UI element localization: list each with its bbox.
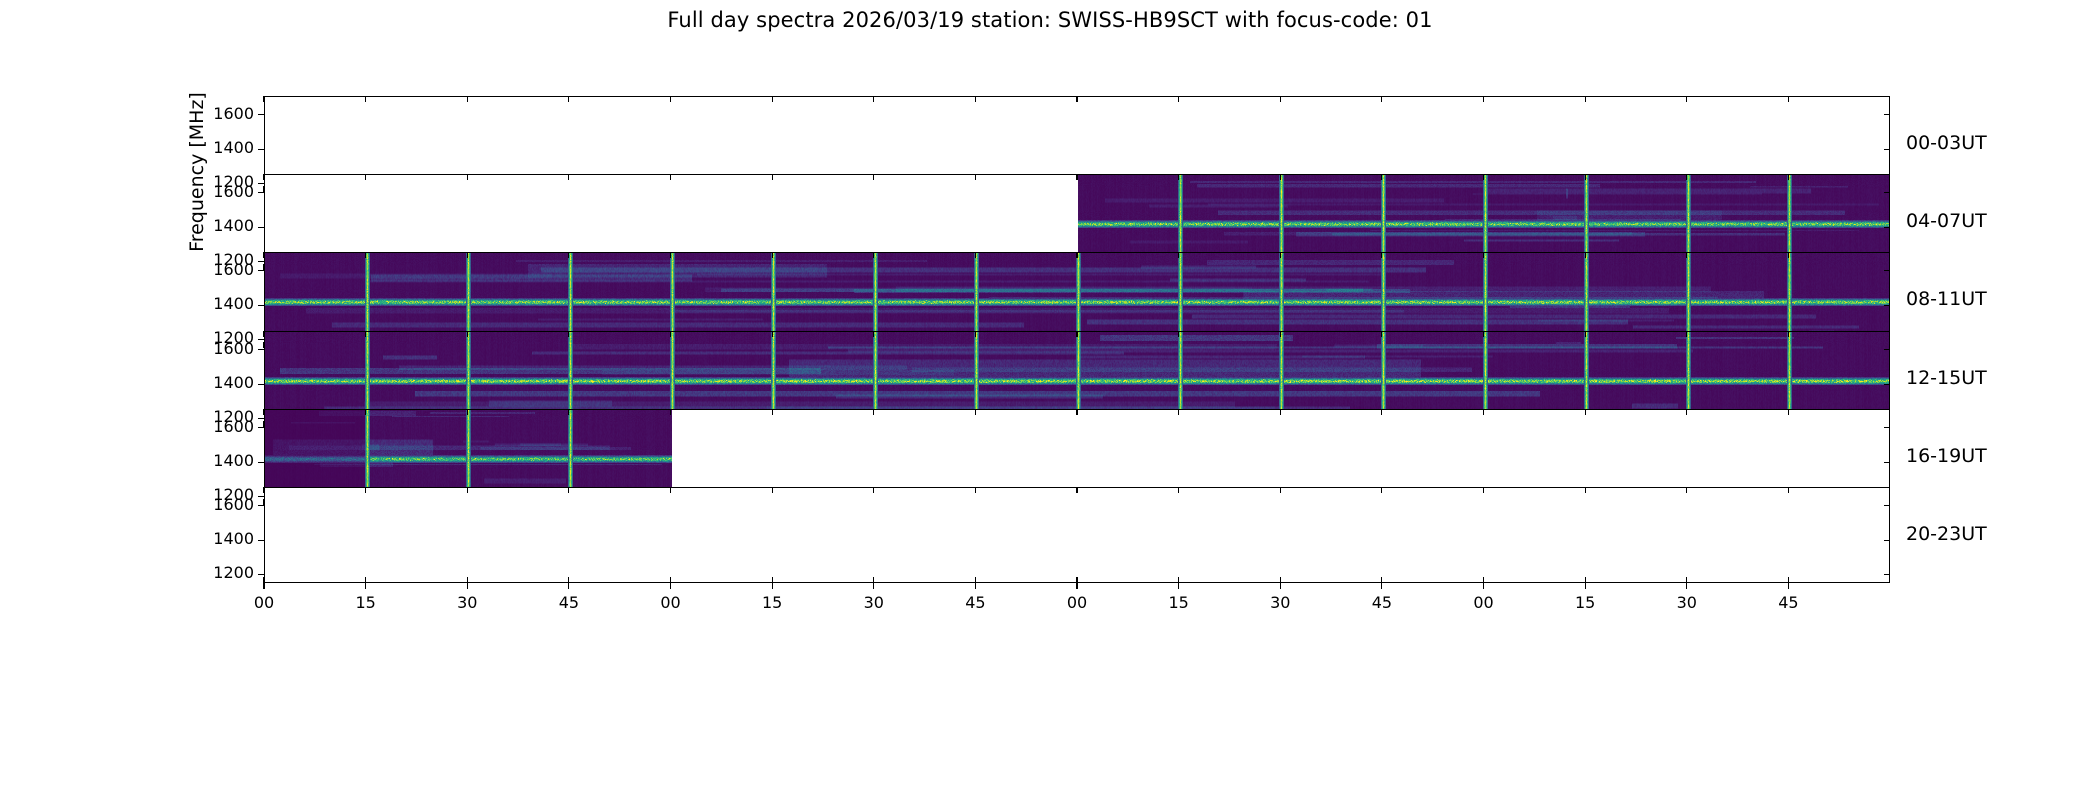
x-tick-mark-top: [1686, 331, 1687, 337]
y-tick-mark: [258, 114, 264, 115]
x-tick-mark-top: [873, 96, 874, 102]
x-tick-mark-top: [670, 252, 671, 258]
x-tick-mark-top: [568, 409, 569, 415]
y-tick-label: 1600: [213, 495, 254, 514]
y-tick-mark: [258, 349, 264, 350]
x-tick-mark-top: [568, 331, 569, 337]
x-tick-mark: [467, 583, 468, 589]
y-tick-label: 1600: [213, 339, 254, 358]
x-tick-mark-top: [1788, 252, 1789, 258]
x-tick-mark-top: [1585, 409, 1586, 415]
x-tick-mark: [1178, 583, 1179, 589]
x-tick-mark-top: [1381, 409, 1382, 415]
x-tick-mark-top: [1076, 409, 1077, 415]
x-tick-mark-top: [670, 174, 671, 180]
x-tick-mark: [975, 583, 976, 589]
y-tick-mark: [258, 462, 264, 463]
x-tick-mark-top: [1381, 96, 1382, 102]
y-tick-mark: [258, 305, 264, 306]
x-tick-mark-top: [975, 96, 976, 102]
x-tick-mark: [1788, 583, 1789, 589]
x-tick-mark-top: [772, 331, 773, 337]
x-tick-mark-top: [1076, 487, 1077, 493]
x-tick-mark-top: [1178, 96, 1179, 102]
y-tick-label: 1400: [213, 373, 254, 392]
y-tick-mark-right: [1884, 227, 1890, 228]
x-tick-mark: [1585, 583, 1586, 589]
x-tick-mark-top: [772, 409, 773, 415]
x-tick-mark-top: [568, 487, 569, 493]
x-tick-mark-top: [1076, 331, 1077, 337]
x-tick-label: 15: [1163, 593, 1195, 612]
x-tick-mark-top: [1686, 174, 1687, 180]
x-tick-label: 30: [451, 593, 483, 612]
x-tick-mark-top: [670, 331, 671, 337]
y-tick-label: 1200: [213, 563, 254, 582]
x-tick-mark-top: [1280, 174, 1281, 180]
x-tick-mark-top: [568, 96, 569, 102]
y-tick-mark: [258, 384, 264, 385]
x-tick-mark-top: [1686, 252, 1687, 258]
x-tick-mark-top: [1585, 487, 1586, 493]
x-tick-mark-top: [772, 96, 773, 102]
spectrogram-panel-20-23: 1200140016000015304500153045001530450015…: [264, 487, 1890, 583]
x-tick-label: 45: [959, 593, 991, 612]
x-tick-label: 00: [248, 593, 280, 612]
x-tick-mark-top: [365, 96, 366, 102]
panel-label-00-03: 00-03UT: [1906, 132, 1987, 154]
y-tick-mark-right: [1884, 270, 1890, 271]
panel-label-12-15: 12-15UT: [1906, 367, 1987, 389]
x-tick-mark-top: [467, 252, 468, 258]
x-tick-mark-top: [1585, 331, 1586, 337]
y-tick-mark-right: [1884, 574, 1890, 575]
x-tick-label: 30: [1671, 593, 1703, 612]
x-tick-mark-top: [1280, 487, 1281, 493]
x-tick-mark: [1280, 583, 1281, 589]
x-tick-mark-top: [1788, 409, 1789, 415]
panel-axes: [264, 487, 1890, 583]
x-tick-mark-top: [1483, 331, 1484, 337]
x-tick-label: 45: [1772, 593, 1804, 612]
y-tick-mark: [258, 505, 264, 506]
x-tick-mark-top: [263, 96, 264, 102]
y-tick-mark: [258, 149, 264, 150]
y-tick-label: 1400: [213, 216, 254, 235]
x-tick-mark-top: [365, 409, 366, 415]
x-tick-label: 45: [1366, 593, 1398, 612]
x-tick-label: 15: [350, 593, 382, 612]
x-tick-mark-top: [975, 331, 976, 337]
x-tick-mark-top: [568, 252, 569, 258]
x-tick-mark-top: [1483, 409, 1484, 415]
x-tick-mark-top: [365, 487, 366, 493]
x-tick-label: 30: [858, 593, 890, 612]
x-tick-mark: [263, 583, 264, 589]
y-tick-mark-right: [1884, 149, 1890, 150]
y-tick-label: 1400: [213, 294, 254, 313]
y-tick-label: 1600: [213, 260, 254, 279]
x-tick-mark-top: [975, 487, 976, 493]
x-tick-mark-top: [873, 331, 874, 337]
y-tick-mark-right: [1884, 349, 1890, 350]
x-tick-mark-top: [1178, 174, 1179, 180]
x-tick-mark-top: [1381, 331, 1382, 337]
y-tick-mark-right: [1884, 462, 1890, 463]
x-tick-mark-top: [873, 252, 874, 258]
x-tick-mark-top: [873, 409, 874, 415]
x-tick-mark-top: [1280, 409, 1281, 415]
x-tick-mark-top: [263, 487, 264, 493]
y-tick-label: 1600: [213, 104, 254, 123]
y-tick-label: 1400: [213, 529, 254, 548]
y-tick-mark: [258, 427, 264, 428]
x-tick-mark: [670, 583, 671, 589]
x-tick-mark-top: [1483, 487, 1484, 493]
x-tick-mark-top: [1280, 331, 1281, 337]
x-tick-mark-top: [1483, 252, 1484, 258]
x-tick-mark-top: [1788, 174, 1789, 180]
x-tick-mark-top: [1788, 487, 1789, 493]
panel-label-04-07: 04-07UT: [1906, 210, 1987, 232]
y-tick-mark: [258, 227, 264, 228]
x-tick-mark-top: [975, 174, 976, 180]
x-tick-mark-top: [1178, 409, 1179, 415]
x-tick-mark-top: [975, 252, 976, 258]
x-tick-mark-top: [1381, 487, 1382, 493]
x-tick-mark-top: [772, 487, 773, 493]
x-tick-mark-top: [772, 174, 773, 180]
x-tick-mark-top: [365, 252, 366, 258]
x-tick-mark-top: [1076, 96, 1077, 102]
x-tick-mark: [1381, 583, 1382, 589]
x-tick-mark-top: [1280, 96, 1281, 102]
x-tick-label: 00: [1468, 593, 1500, 612]
figure-title: Full day spectra 2026/03/19 station: SWI…: [0, 8, 2100, 32]
y-tick-label: 1400: [213, 138, 254, 157]
x-tick-mark-top: [1788, 331, 1789, 337]
y-tick-mark-right: [1884, 540, 1890, 541]
x-tick-mark-top: [467, 487, 468, 493]
y-tick-mark: [258, 540, 264, 541]
x-tick-mark: [568, 583, 569, 589]
y-tick-mark-right: [1884, 114, 1890, 115]
y-tick-mark-right: [1884, 192, 1890, 193]
x-tick-mark: [1076, 583, 1077, 589]
x-tick-mark-top: [873, 487, 874, 493]
x-tick-mark-top: [568, 174, 569, 180]
x-tick-mark-top: [975, 409, 976, 415]
x-tick-mark-top: [1178, 331, 1179, 337]
panel-label-20-23: 20-23UT: [1906, 523, 1987, 545]
y-tick-mark-right: [1884, 505, 1890, 506]
x-tick-mark-top: [467, 331, 468, 337]
x-tick-mark-top: [772, 252, 773, 258]
x-tick-label: 00: [655, 593, 687, 612]
x-tick-mark: [365, 583, 366, 589]
x-tick-mark-top: [1483, 174, 1484, 180]
x-tick-mark-top: [1585, 252, 1586, 258]
panel-label-16-19: 16-19UT: [1906, 445, 1987, 467]
x-tick-mark-top: [467, 96, 468, 102]
x-tick-mark-top: [1686, 487, 1687, 493]
x-tick-mark-top: [1483, 96, 1484, 102]
x-tick-mark-top: [1178, 252, 1179, 258]
x-tick-mark-top: [365, 331, 366, 337]
x-tick-mark-top: [263, 331, 264, 337]
x-tick-mark-top: [1280, 252, 1281, 258]
x-tick-label: 30: [1264, 593, 1296, 612]
x-tick-mark-top: [1076, 252, 1077, 258]
y-tick-mark-right: [1884, 384, 1890, 385]
x-tick-mark-top: [1585, 96, 1586, 102]
x-tick-mark-top: [1178, 487, 1179, 493]
y-tick-label: 1400: [213, 451, 254, 470]
x-tick-label: 15: [756, 593, 788, 612]
x-tick-mark: [1686, 583, 1687, 589]
x-tick-label: 15: [1569, 593, 1601, 612]
x-tick-mark-top: [670, 487, 671, 493]
x-tick-mark-top: [873, 174, 874, 180]
y-tick-mark: [258, 270, 264, 271]
y-tick-label: 1600: [213, 417, 254, 436]
x-tick-mark-top: [1381, 174, 1382, 180]
panel-label-08-11: 08-11UT: [1906, 288, 1987, 310]
x-tick-mark-top: [467, 174, 468, 180]
x-tick-mark-top: [263, 174, 264, 180]
x-tick-mark: [772, 583, 773, 589]
y-tick-mark: [258, 192, 264, 193]
x-tick-mark-top: [263, 409, 264, 415]
x-tick-label: 45: [553, 593, 585, 612]
x-tick-label: 00: [1061, 593, 1093, 612]
y-tick-mark: [258, 574, 264, 575]
y-tick-mark-right: [1884, 305, 1890, 306]
x-tick-mark-top: [365, 174, 366, 180]
x-tick-mark-top: [670, 96, 671, 102]
x-tick-mark-top: [1686, 409, 1687, 415]
spectrogram-figure: Full day spectra 2026/03/19 station: SWI…: [0, 0, 2100, 800]
x-tick-mark-top: [1788, 96, 1789, 102]
x-tick-mark: [1483, 583, 1484, 589]
x-tick-mark-top: [1381, 252, 1382, 258]
x-tick-mark-top: [1076, 174, 1077, 180]
x-tick-mark-top: [1686, 96, 1687, 102]
x-tick-mark-top: [467, 409, 468, 415]
x-tick-mark-top: [1585, 174, 1586, 180]
y-tick-mark-right: [1884, 427, 1890, 428]
x-tick-mark: [873, 583, 874, 589]
y-tick-label: 1600: [213, 182, 254, 201]
y-axis-label: Frequency [MHz]: [186, 62, 208, 282]
x-tick-mark-top: [670, 409, 671, 415]
x-tick-mark-top: [263, 252, 264, 258]
